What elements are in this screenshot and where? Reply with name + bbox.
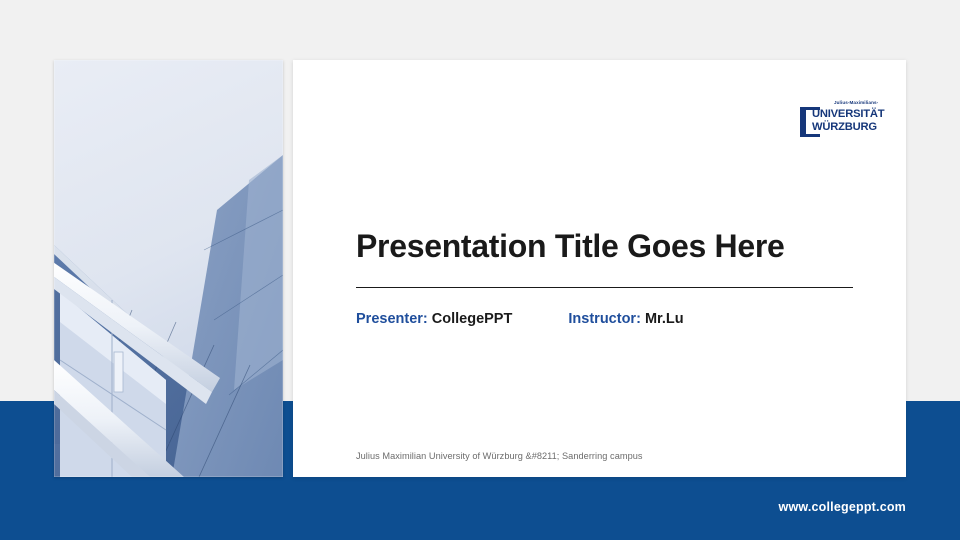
- presenter-value: CollegePPT: [432, 311, 513, 327]
- cover-photo: [54, 60, 283, 477]
- logo-bracket-fill-icon: [800, 107, 806, 137]
- content-card: Julius-Maximilians- UNIVERSITÄT WÜRZBURG…: [293, 60, 906, 477]
- logo-line-wuerzburg: WÜRZBURG: [812, 121, 877, 133]
- photo-caption: Julius Maximilian University of Würzburg…: [356, 451, 886, 461]
- presentation-meta: Presenter: CollegePPT Instructor: Mr.Lu: [356, 311, 876, 327]
- site-url: www.collegeppt.com: [779, 500, 906, 514]
- logo-line-universitaet: UNIVERSITÄT: [812, 108, 884, 120]
- slide-root: www.collegeppt.com: [0, 0, 960, 540]
- instructor-label: Instructor:: [568, 311, 641, 327]
- university-logo: Julius-Maximilians- UNIVERSITÄT WÜRZBURG: [800, 100, 884, 142]
- presenter-group: Presenter: CollegePPT: [356, 311, 512, 327]
- title-divider: [356, 287, 853, 288]
- instructor-value: Mr.Lu: [645, 311, 684, 327]
- cover-photo-artwork: [54, 60, 283, 477]
- logo-pretext: Julius-Maximilians-: [834, 100, 878, 105]
- instructor-group: Instructor: Mr.Lu: [568, 311, 683, 327]
- page-title: Presentation Title Goes Here: [356, 228, 876, 265]
- presenter-label: Presenter:: [356, 311, 428, 327]
